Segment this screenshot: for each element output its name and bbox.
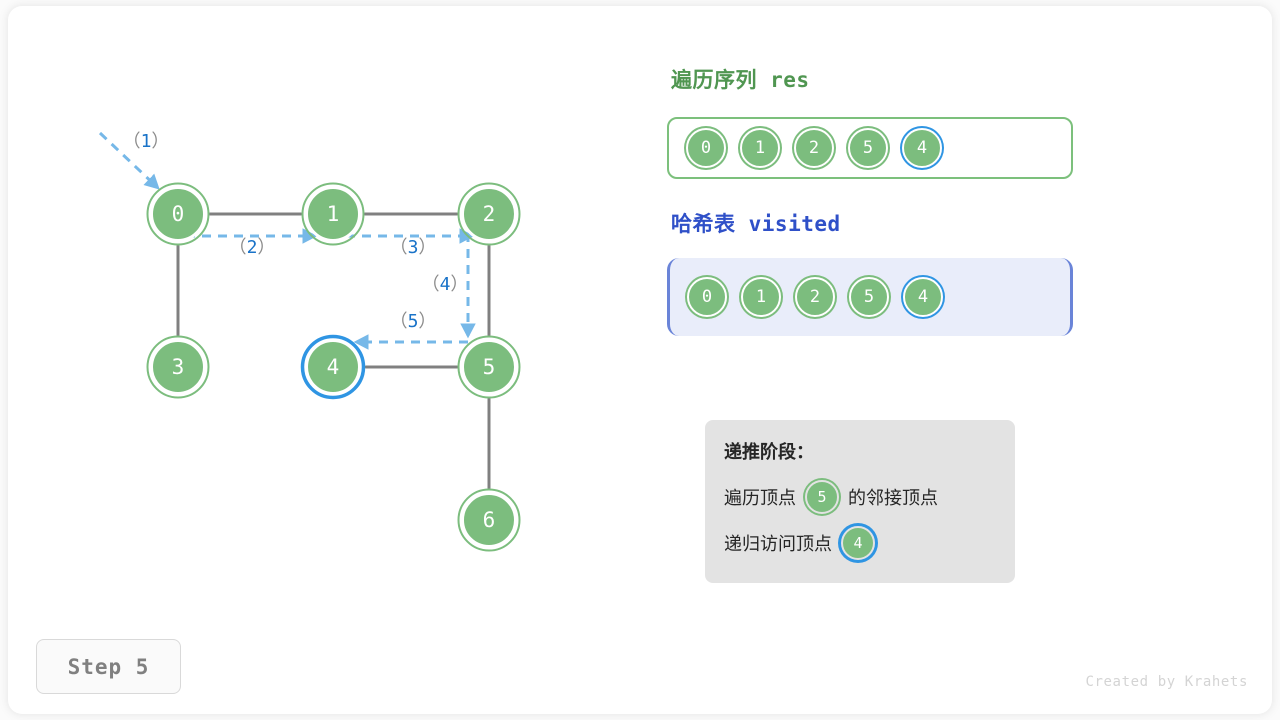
node-label-0: 0 — [172, 202, 185, 226]
arrow-label-4: （4） — [422, 274, 469, 295]
graph-node-6: 6 — [459, 490, 520, 551]
res-cell-1: 1 — [740, 128, 780, 168]
visited-cell-1: 1 — [741, 277, 781, 317]
phase-info-box: 递推阶段： 遍历顶点 5 的邻接顶点 递归访问顶点 4 — [705, 420, 1015, 583]
graph-nodes: 0123456 — [148, 184, 520, 551]
node-label-3: 3 — [172, 355, 185, 379]
visited-cell-0: 0 — [687, 277, 727, 317]
phase-line-2: 递归访问顶点 4 — [724, 526, 1015, 560]
graph-node-2: 2 — [459, 184, 520, 245]
phase-line-1: 遍历顶点 5 的邻接顶点 — [724, 480, 1015, 514]
credit-text: Created by Krahets — [1085, 674, 1248, 690]
phase-line-1-node: 5 — [805, 480, 839, 514]
page-root: 0123456 （1）（2）（3）（4）（5） 遍历序列 res 01254 哈… — [0, 0, 1280, 720]
visited-hashmap-box: 01254 — [667, 258, 1073, 336]
node-label-5: 5 — [483, 355, 496, 379]
res-cell-2: 2 — [794, 128, 834, 168]
arrow-label-1: （1） — [123, 131, 170, 152]
arrow-label-2: （2） — [229, 237, 276, 258]
graph-diagram: 0123456 （1）（2）（3）（4）（5） — [0, 0, 660, 720]
graph-node-0: 0 — [148, 184, 209, 245]
step-badge: Step 5 — [36, 639, 181, 694]
node-label-4: 4 — [327, 355, 340, 379]
graph-node-5: 5 — [459, 337, 520, 398]
res-cell-4: 4 — [902, 128, 942, 168]
graph-node-1: 1 — [303, 184, 364, 245]
phase-line-2-node: 4 — [841, 526, 875, 560]
graph-node-4: 4 — [303, 337, 364, 398]
node-label-6: 6 — [483, 508, 496, 532]
visited-cell-2: 2 — [795, 277, 835, 317]
res-cell-3: 5 — [848, 128, 888, 168]
arrow-label-3: （3） — [390, 237, 437, 258]
visited-cell-3: 5 — [849, 277, 889, 317]
phase-line-1-before: 遍历顶点 — [724, 484, 796, 510]
res-panel-title: 遍历序列 res — [671, 64, 810, 94]
res-array-box: 01254 — [667, 117, 1073, 179]
phase-heading: 递推阶段： — [724, 438, 1015, 464]
node-label-1: 1 — [327, 202, 340, 226]
arrow-label-5: （5） — [390, 311, 437, 332]
phase-line-1-after: 的邻接顶点 — [848, 484, 938, 510]
node-label-2: 2 — [483, 202, 496, 226]
visited-cell-4: 4 — [903, 277, 943, 317]
graph-node-3: 3 — [148, 337, 209, 398]
visited-panel-title: 哈希表 visited — [671, 208, 841, 238]
phase-line-2-before: 递归访问顶点 — [724, 530, 832, 556]
res-cell-0: 0 — [686, 128, 726, 168]
